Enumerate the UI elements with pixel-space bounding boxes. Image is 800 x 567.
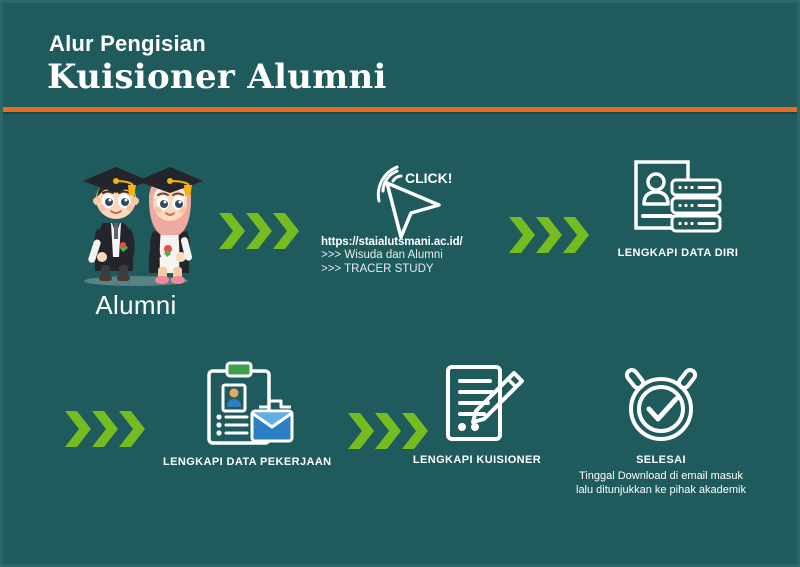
step-data-pekerjaan: LENGKAPI DATA PEKERJAAN xyxy=(163,361,325,468)
chevron-right-icon xyxy=(65,411,91,447)
mouse-cursor-click-icon: CLICK! xyxy=(353,161,453,239)
id-card-database-icon xyxy=(598,158,758,241)
document-pencil-icon xyxy=(401,363,553,450)
chevron-right-icon xyxy=(563,217,589,253)
step-label-data-diri: LENGKAPI DATA DIRI xyxy=(598,247,758,259)
header-kicker: Alur Pengisian xyxy=(49,31,206,57)
chevron-right-icon xyxy=(348,413,374,449)
tracer-study-url[interactable]: https://staialutsmani.ac.id/ xyxy=(321,236,501,248)
chevron-right-icon xyxy=(246,213,272,249)
step-label-alumni: Alumni xyxy=(61,290,211,321)
arrow-group-1 xyxy=(219,213,299,249)
chevron-right-icon xyxy=(375,413,401,449)
step-label-selesai: SELESAI xyxy=(561,454,761,466)
tracer-study-path-line-2: >>> TRACER STUDY xyxy=(321,262,501,276)
tracer-study-url-block: https://staialutsmani.ac.id/ >>> Wisuda … xyxy=(321,236,501,276)
chevron-right-icon xyxy=(119,411,145,447)
step-label-kuisioner: LENGKAPI KUISIONER xyxy=(401,454,553,466)
page-title: Kuisioner Alumni xyxy=(47,60,387,94)
step-note-selesai-line-1: Tinggal Download di email masuk xyxy=(561,469,761,483)
tracer-study-path-line-1: >>> Wisuda dan Alumni xyxy=(321,248,501,262)
chevron-right-icon xyxy=(509,217,535,253)
poster-header: Alur Pengisian Kuisioner Alumni xyxy=(3,3,800,109)
svg-text:CLICK!: CLICK! xyxy=(405,170,452,186)
arrow-group-2 xyxy=(509,217,589,253)
header-divider-shadow xyxy=(3,112,800,114)
step-data-diri: LENGKAPI DATA DIRI xyxy=(598,158,758,259)
step-label-data-pekerjaan: LENGKAPI DATA PEKERJAAN xyxy=(163,456,325,468)
alarm-clock-check-icon xyxy=(561,361,761,452)
chevron-right-icon xyxy=(219,213,245,249)
step-note-selesai-line-2: lalu ditunjukkan ke pihak akademik xyxy=(561,483,761,497)
graduates-couple-icon xyxy=(61,153,211,288)
clipboard-briefcase-icon xyxy=(163,361,325,452)
chevron-right-icon xyxy=(273,213,299,249)
chevron-right-icon xyxy=(92,411,118,447)
step-selesai: SELESAI Tinggal Download di email masuk … xyxy=(561,361,761,497)
step-kuisioner: LENGKAPI KUISIONER xyxy=(401,363,553,466)
arrow-group-3 xyxy=(65,411,145,447)
chevron-right-icon xyxy=(536,217,562,253)
infographic-poster: Alur Pengisian Kuisioner Alumni xyxy=(0,0,800,567)
